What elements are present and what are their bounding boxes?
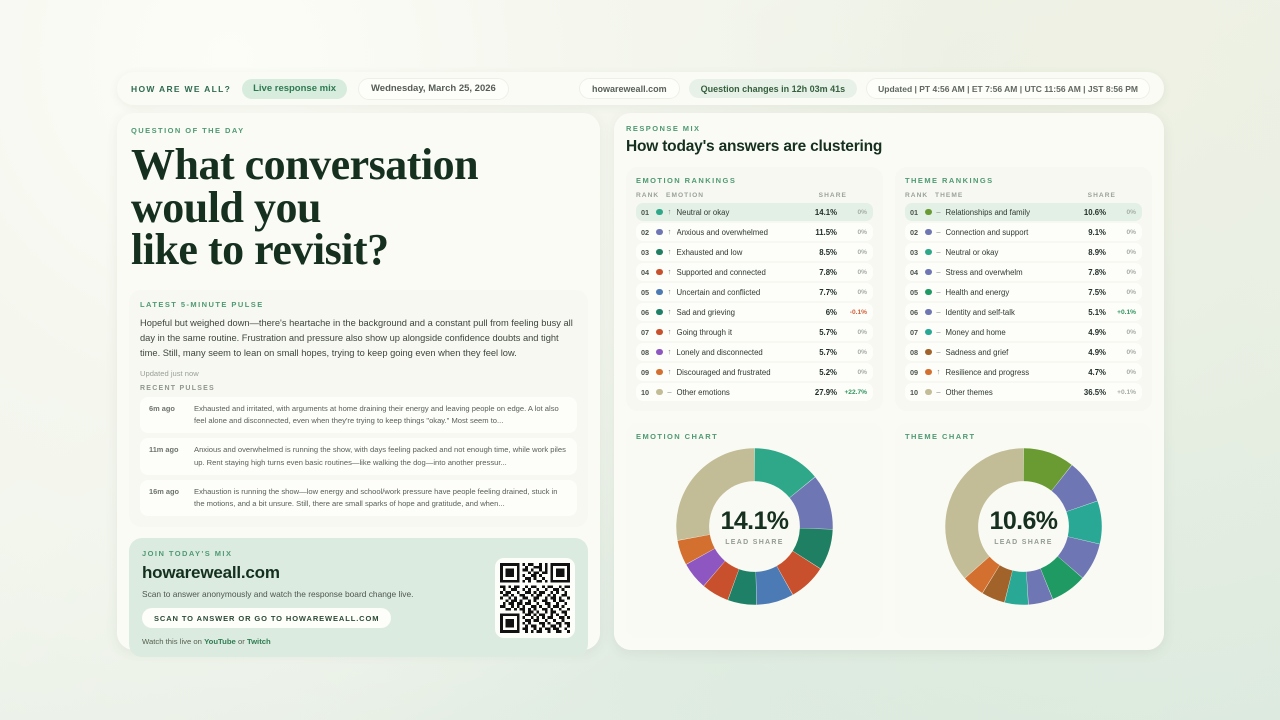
trend-flat-icon: – [932, 388, 946, 396]
share-value: 10.6% [1084, 208, 1106, 217]
table-row[interactable]: 03↑Exhausted and low8.5%0% [636, 243, 873, 261]
row-label: Connection and support [946, 228, 1089, 237]
share-value: 4.7% [1088, 368, 1106, 377]
table-row[interactable]: 08–Sadness and grief4.9%0% [905, 343, 1142, 361]
trend-flat-icon: – [932, 348, 946, 356]
theme-rankings-eyebrow: THEME RANKINGS [905, 176, 1142, 185]
join-mix-card: JOIN TODAY'S MIX howareweall.com Scan to… [129, 538, 588, 657]
question-countdown-chip: Question changes in 12h 03m 41s [689, 79, 858, 98]
rank-number: 07 [910, 328, 923, 337]
delta-value: 0% [1110, 369, 1136, 376]
row-label: Neutral or okay [946, 248, 1089, 257]
share-value: 11.5% [815, 228, 837, 237]
share-value: 7.7% [819, 288, 837, 297]
trend-flat-icon: – [932, 308, 946, 316]
rank-number: 09 [641, 368, 654, 377]
response-mix-eyebrow: RESPONSE MIX [626, 124, 1152, 133]
emotion-rankings-eyebrow: EMOTION RANKINGS [636, 176, 873, 185]
share-value: 4.9% [1088, 328, 1106, 337]
pulse-timestamp: 11m ago [149, 444, 185, 454]
rank-number: 06 [641, 308, 654, 317]
delta-value: 0% [841, 209, 867, 216]
response-mix-panel: RESPONSE MIX How today's answers are clu… [614, 113, 1164, 650]
charts-row: EMOTION CHART 14.1% LEAD SHARE THEME CHA… [626, 423, 1152, 638]
trend-up-icon: ↑ [663, 308, 677, 316]
trend-flat-icon: – [932, 208, 946, 216]
delta-value: 0% [841, 369, 867, 376]
table-row[interactable]: 08↑Lonely and disconnected5.7%0% [636, 343, 873, 361]
watch-prefix-label: Watch this live on [142, 637, 204, 646]
table-row[interactable]: 07↑Going through it5.7%0% [636, 323, 873, 341]
trend-up-icon: ↑ [663, 348, 677, 356]
table-row[interactable]: 01–Relationships and family10.6%0% [905, 203, 1142, 221]
donut-segment[interactable] [945, 448, 1023, 578]
delta-value: -0.1% [841, 309, 867, 316]
rank-number: 03 [641, 248, 654, 257]
trend-up-icon: ↑ [663, 208, 677, 216]
table-row[interactable]: 01↑Neutral or okay14.1%0% [636, 203, 873, 221]
current-date-label: Wednesday, March 25, 2026 [358, 78, 509, 100]
rank-number: 06 [910, 308, 923, 317]
row-label: Going through it [677, 328, 820, 337]
row-label: Health and energy [946, 288, 1089, 297]
column-header-rank: RANK [905, 192, 935, 199]
share-value: 14.1% [815, 208, 837, 217]
rank-number: 08 [910, 348, 923, 357]
share-value: 5.2% [819, 368, 837, 377]
topbar-right-group: howareweall.com Question changes in 12h … [579, 78, 1150, 99]
question-block: QUESTION OF THE DAY What conversation wo… [129, 124, 588, 272]
rank-number: 02 [910, 228, 923, 237]
pulse-eyebrow: LATEST 5-MINUTE PULSE [140, 300, 577, 309]
rank-number: 10 [910, 388, 923, 397]
question-eyebrow: QUESTION OF THE DAY [131, 126, 586, 135]
delta-value: +22.7% [841, 389, 867, 396]
delta-value: 0% [1110, 209, 1136, 216]
row-label: Identity and self-talk [946, 308, 1089, 317]
qr-code[interactable] [495, 558, 575, 638]
rank-number: 10 [641, 388, 654, 397]
column-header-share: SHARE [813, 192, 873, 199]
twitch-link[interactable]: Twitch [247, 637, 271, 646]
page-title: What conversation would you like to revi… [131, 144, 586, 272]
delta-value: +0.1% [1110, 309, 1136, 316]
trend-up-icon: ↑ [663, 368, 677, 376]
row-label: Uncertain and conflicted [677, 288, 820, 297]
panels-container: QUESTION OF THE DAY What conversation wo… [117, 113, 1164, 650]
list-item[interactable]: 11m ago Anxious and overwhelmed is runni… [140, 438, 577, 474]
share-value: 6% [826, 308, 837, 317]
list-item[interactable]: 16m ago Exhaustion is running the show—l… [140, 480, 577, 516]
table-row[interactable]: 05–Health and energy7.5%0% [905, 283, 1142, 301]
question-panel: QUESTION OF THE DAY What conversation wo… [117, 113, 600, 650]
site-domain-chip[interactable]: howareweall.com [579, 78, 680, 99]
watch-separator: or [236, 637, 247, 646]
response-mix-title: How today's answers are clustering [626, 138, 1152, 156]
column-header-share: SHARE [1082, 192, 1142, 199]
share-value: 7.8% [819, 268, 837, 277]
table-row[interactable]: 09↑Resilience and progress4.7%0% [905, 363, 1142, 381]
theme-rankings-list: 01–Relationships and family10.6%0%02–Con… [905, 203, 1142, 401]
row-label: Exhausted and low [677, 248, 820, 257]
delta-value: 0% [1110, 349, 1136, 356]
emotion-chart-title: EMOTION CHART [636, 432, 718, 441]
share-value: 27.9% [815, 388, 837, 397]
share-value: 5.1% [1088, 308, 1106, 317]
delta-value: +0.1% [1110, 389, 1136, 396]
emotion-rankings-list: 01↑Neutral or okay14.1%0%02↑Anxious and … [636, 203, 873, 401]
table-row[interactable]: 06↑Sad and grieving6%-0.1% [636, 303, 873, 321]
watch-live-line: Watch this live on YouTube or Twitch [142, 637, 485, 646]
table-row[interactable]: 05↑Uncertain and conflicted7.7%0% [636, 283, 873, 301]
row-label: Lonely and disconnected [677, 348, 820, 357]
column-header-theme: THEME [935, 192, 1082, 199]
rank-number: 05 [910, 288, 923, 297]
theme-donut-chart: 10.6% LEAD SHARE [942, 445, 1105, 608]
delta-value: 0% [841, 289, 867, 296]
rank-number: 02 [641, 228, 654, 237]
join-eyebrow: JOIN TODAY'S MIX [142, 549, 485, 558]
table-row[interactable]: 10–Other emotions27.9%+22.7% [636, 383, 873, 401]
delta-value: 0% [841, 269, 867, 276]
row-label: Neutral or okay [677, 208, 815, 217]
pulse-excerpt: Exhaustion is running the show—low energ… [194, 486, 568, 510]
theme-donut-svg [942, 445, 1105, 608]
dashboard-shell: HOW ARE WE ALL? Live response mix Wednes… [117, 72, 1164, 650]
column-header-emotion: EMOTION [666, 192, 813, 199]
column-header-rank: RANK [636, 192, 666, 199]
trend-up-icon: ↑ [932, 368, 946, 376]
rank-number: 07 [641, 328, 654, 337]
delta-value: 0% [841, 249, 867, 256]
delta-value: 0% [1110, 329, 1136, 336]
row-label: Anxious and overwhelmed [677, 228, 816, 237]
table-row[interactable]: 03–Neutral or okay8.9%0% [905, 243, 1142, 261]
table-row[interactable]: 04↑Supported and connected7.8%0% [636, 263, 873, 281]
row-label: Sad and grieving [677, 308, 826, 317]
theme-rankings-card: THEME RANKINGS RANK THEME SHARE 01–Relat… [895, 167, 1152, 411]
table-row[interactable]: 09↑Discouraged and frustrated5.2%0% [636, 363, 873, 381]
table-row[interactable]: 10–Other themes36.5%+0.1% [905, 383, 1142, 401]
question-line-1: What conversation [131, 144, 586, 187]
theme-rankings-header: RANK THEME SHARE [905, 192, 1142, 199]
emotion-rankings-card: EMOTION RANKINGS RANK EMOTION SHARE 01↑N… [626, 167, 883, 411]
table-row[interactable]: 04–Stress and overwhelm7.8%0% [905, 263, 1142, 281]
list-item[interactable]: 6m ago Exhausted and irritated, with arg… [140, 397, 577, 433]
pulse-excerpt: Exhausted and irritated, with arguments … [194, 403, 568, 427]
share-value: 7.8% [1088, 268, 1106, 277]
pulse-timestamp: 6m ago [149, 403, 185, 413]
join-card-text: JOIN TODAY'S MIX howareweall.com Scan to… [142, 549, 485, 646]
share-value: 9.1% [1088, 228, 1106, 237]
row-label: Other themes [946, 388, 1084, 397]
qr-code-image [500, 563, 570, 633]
trend-flat-icon: – [663, 388, 677, 396]
pulse-timestamp: 16m ago [149, 486, 185, 496]
delta-value: 0% [841, 229, 867, 236]
pulse-summary-text: Hopeful but weighed down—there's heartac… [140, 316, 577, 361]
row-label: Sadness and grief [946, 348, 1089, 357]
table-row[interactable]: 02–Connection and support9.1%0% [905, 223, 1142, 241]
latest-pulse-card: LATEST 5-MINUTE PULSE Hopeful but weighe… [129, 290, 588, 527]
delta-value: 0% [841, 329, 867, 336]
emotion-rankings-header: RANK EMOTION SHARE [636, 192, 873, 199]
rank-number: 04 [910, 268, 923, 277]
emotion-donut-svg [673, 445, 836, 608]
row-label: Relationships and family [946, 208, 1084, 217]
delta-value: 0% [1110, 269, 1136, 276]
emotion-chart-card: EMOTION CHART 14.1% LEAD SHARE [626, 423, 883, 638]
trend-up-icon: ↑ [663, 328, 677, 336]
trend-flat-icon: – [932, 268, 946, 276]
recent-pulses-label: RECENT PULSES [140, 385, 577, 392]
join-subtitle: Scan to answer anonymously and watch the… [142, 589, 485, 599]
theme-chart-card: THEME CHART 10.6% LEAD SHARE [895, 423, 1152, 638]
share-value: 7.5% [1088, 288, 1106, 297]
row-label: Money and home [946, 328, 1089, 337]
question-line-2: would you [131, 187, 586, 230]
row-label: Stress and overwhelm [946, 268, 1089, 277]
pulse-updated-label: Updated just now [140, 369, 577, 378]
table-row[interactable]: 07–Money and home4.9%0% [905, 323, 1142, 341]
theme-chart-title: THEME CHART [905, 432, 976, 441]
youtube-link[interactable]: YouTube [204, 637, 236, 646]
donut-segment[interactable] [676, 448, 754, 540]
updated-timezones-chip: Updated | PT 4:56 AM | ET 7:56 AM | UTC … [866, 78, 1150, 99]
delta-value: 0% [841, 349, 867, 356]
delta-value: 0% [1110, 249, 1136, 256]
rank-number: 01 [910, 208, 923, 217]
delta-value: 0% [1110, 289, 1136, 296]
rank-number: 04 [641, 268, 654, 277]
join-domain-label: howareweall.com [142, 563, 485, 583]
brand-label: HOW ARE WE ALL? [131, 84, 231, 94]
share-value: 8.9% [1088, 248, 1106, 257]
row-label: Discouraged and frustrated [677, 368, 820, 377]
delta-value: 0% [1110, 229, 1136, 236]
rankings-row: EMOTION RANKINGS RANK EMOTION SHARE 01↑N… [626, 167, 1152, 411]
share-value: 8.5% [819, 248, 837, 257]
top-bar: HOW ARE WE ALL? Live response mix Wednes… [117, 72, 1164, 105]
rank-number: 01 [641, 208, 654, 217]
rank-number: 05 [641, 288, 654, 297]
trend-up-icon: ↑ [663, 248, 677, 256]
emotion-donut-chart: 14.1% LEAD SHARE [673, 445, 836, 608]
recent-pulses-list: 6m ago Exhausted and irritated, with arg… [140, 397, 577, 516]
row-label: Supported and connected [677, 268, 820, 277]
trend-up-icon: ↑ [663, 268, 677, 276]
trend-up-icon: ↑ [663, 228, 677, 236]
trend-flat-icon: – [932, 228, 946, 236]
rank-number: 09 [910, 368, 923, 377]
rank-number: 08 [641, 348, 654, 357]
share-value: 4.9% [1088, 348, 1106, 357]
trend-up-icon: ↑ [663, 288, 677, 296]
row-label: Resilience and progress [946, 368, 1089, 377]
question-line-3: like to revisit? [131, 229, 586, 272]
share-value: 5.7% [819, 328, 837, 337]
row-label: Other emotions [677, 388, 815, 397]
trend-flat-icon: – [932, 328, 946, 336]
share-value: 5.7% [819, 348, 837, 357]
trend-flat-icon: – [932, 248, 946, 256]
trend-flat-icon: – [932, 288, 946, 296]
live-response-mix-badge[interactable]: Live response mix [242, 79, 347, 99]
pulse-excerpt: Anxious and overwhelmed is running the s… [194, 444, 568, 468]
table-row[interactable]: 06–Identity and self-talk5.1%+0.1% [905, 303, 1142, 321]
rank-number: 03 [910, 248, 923, 257]
table-row[interactable]: 02↑Anxious and overwhelmed11.5%0% [636, 223, 873, 241]
scan-to-answer-button[interactable]: SCAN TO ANSWER OR GO TO HOWAREWEALL.COM [142, 608, 391, 628]
share-value: 36.5% [1084, 388, 1106, 397]
